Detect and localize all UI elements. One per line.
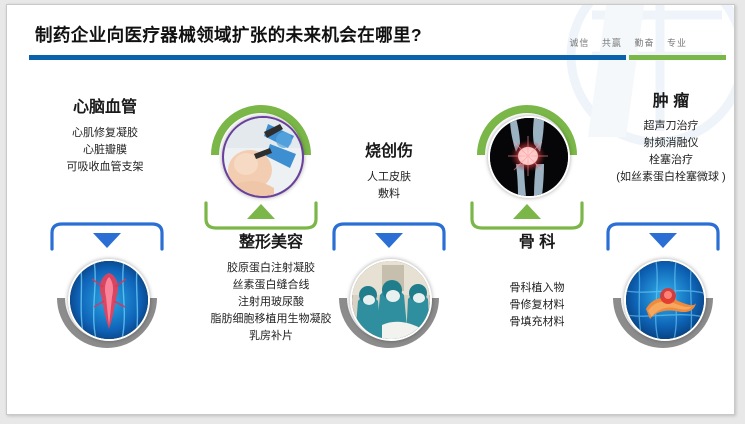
medallion-ortho xyxy=(477,105,577,205)
header-rule-green xyxy=(629,55,726,60)
column-list-ortho: 骨科植入物 骨修复材料 骨填充材料 xyxy=(457,280,617,331)
column-list-cardio: 心肌修复凝胶 心脏瓣膜 可吸收血管支架 xyxy=(23,125,187,176)
pancreas-tumor-image xyxy=(624,259,706,341)
page-title: 制药企业向医疗器械领域扩张的未来机会在哪里? xyxy=(35,22,422,47)
list-item: 骨科植入物 xyxy=(457,280,617,297)
slide-canvas: 制药企业向医疗器械领域扩张的未来机会在哪里? 诚信 共赢 勤奋 专业 心脑血管 … xyxy=(6,4,735,415)
list-item: 超声刀治疗 xyxy=(595,118,735,135)
column-heading-oncology: 肿 瘤 xyxy=(595,93,735,111)
header-rule-blue xyxy=(29,55,626,60)
callout-bracket-oncology xyxy=(605,221,721,251)
list-item: 骨填充材料 xyxy=(457,314,617,331)
callout-bracket-ortho xyxy=(469,201,585,231)
column-heading-burn: 烧创伤 xyxy=(315,143,463,161)
column-cardio: 心脑血管 心肌修复凝胶 心脏瓣膜 可吸收血管支架 xyxy=(23,99,187,176)
callout-bracket-plastic xyxy=(203,201,319,231)
callout-bracket-cardio xyxy=(49,221,165,251)
column-list-oncology: 超声刀治疗 射频消融仪 栓塞治疗 (如丝素蛋白栓塞微球 ) xyxy=(595,118,735,186)
medallion-oncology xyxy=(613,248,713,348)
list-item: 心脏瓣膜 xyxy=(23,142,187,159)
list-item: 可吸收血管支架 xyxy=(23,159,187,176)
medallion-plastic xyxy=(211,105,311,205)
list-item: 骨修复材料 xyxy=(457,297,617,314)
slogan-word-3: 勤奋 xyxy=(634,38,654,48)
list-item: 射频消融仪 xyxy=(595,135,735,152)
list-item: (如丝素蛋白栓塞微球 ) xyxy=(595,169,735,186)
column-orthopedics: 骨 科 骨科植入物 骨修复材料 骨填充材料 xyxy=(457,234,617,331)
medallion-burn xyxy=(339,248,439,348)
slogan-word-4: 专业 xyxy=(667,38,687,48)
list-item: 心肌修复凝胶 xyxy=(23,125,187,142)
knee-joint-xray-image xyxy=(488,116,570,198)
slide-header: 制药企业向医疗器械领域扩张的未来机会在哪里? 诚信 共赢 勤奋 专业 xyxy=(7,5,734,63)
column-burn-trauma: 烧创伤 人工皮肤 敷料 xyxy=(315,143,463,203)
callout-bracket-burn xyxy=(331,221,447,251)
company-slogan: 诚信 共赢 勤奋 专业 xyxy=(569,36,687,49)
heart-vessels-image xyxy=(68,259,150,341)
column-heading-cardio: 心脑血管 xyxy=(23,99,187,117)
operating-room-image xyxy=(350,259,432,341)
cosmetic-injection-image xyxy=(222,116,304,198)
column-oncology: 肿 瘤 超声刀治疗 射频消融仪 栓塞治疗 (如丝素蛋白栓塞微球 ) xyxy=(595,93,735,186)
column-list-burn: 人工皮肤 敷料 xyxy=(315,169,463,203)
list-item: 敷料 xyxy=(315,186,463,203)
slogan-word-2: 共赢 xyxy=(602,38,622,48)
list-item: 栓塞治疗 xyxy=(595,152,735,169)
medallion-cardio xyxy=(57,248,157,348)
list-item: 人工皮肤 xyxy=(315,169,463,186)
column-heading-ortho: 骨 科 xyxy=(457,234,617,252)
slogan-word-1: 诚信 xyxy=(569,38,589,48)
